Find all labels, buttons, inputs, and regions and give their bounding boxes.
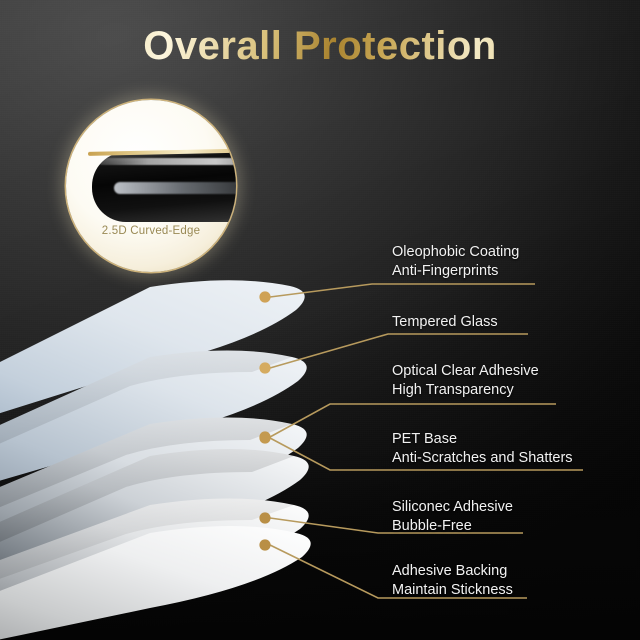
label-adhesive-backing: Adhesive Backing Maintain Stickness [392, 562, 513, 599]
curved-edge-inset: 2.5D Curved-Edge [66, 100, 236, 272]
connector-dot-6 [259, 539, 270, 550]
layer-stack-illustration [0, 0, 640, 640]
label-line-2: Anti-Scratches and Shatters [392, 449, 573, 468]
label-line-2: Bubble-Free [392, 517, 513, 536]
label-line-1: Siliconec Adhesive [392, 499, 513, 515]
label-line-2: High Transparency [392, 381, 539, 400]
label-line-1: Adhesive Backing [392, 563, 507, 579]
connector-dot-1 [259, 291, 270, 302]
inset-caption: 2.5D Curved-Edge [66, 225, 236, 237]
label-line-1: Oleophobic Coating [392, 244, 519, 260]
label-oleophobic-coating: Oleophobic Coating Anti-Fingerprints [392, 243, 519, 280]
label-optical-clear-adhesive: Optical Clear Adhesive High Transparency [392, 362, 539, 399]
label-line-2: Maintain Stickness [392, 581, 513, 600]
label-tempered-glass: Tempered Glass [392, 313, 498, 332]
product-infographic: Overall Protection [0, 0, 640, 640]
connector-dot-5 [259, 512, 270, 523]
connector-dot-2 [259, 362, 270, 373]
connector-dot-4 [259, 432, 270, 443]
leader-line-1 [270, 284, 535, 297]
label-siliconec-adhesive: Siliconec Adhesive Bubble-Free [392, 498, 513, 535]
label-line-1: Optical Clear Adhesive [392, 363, 539, 379]
label-pet-base: PET Base Anti-Scratches and Shatters [392, 430, 573, 467]
phone-edge-icon [92, 152, 236, 222]
label-line-1: PET Base [392, 431, 457, 447]
label-line-1: Tempered Glass [392, 314, 498, 330]
label-line-2: Anti-Fingerprints [392, 262, 519, 281]
